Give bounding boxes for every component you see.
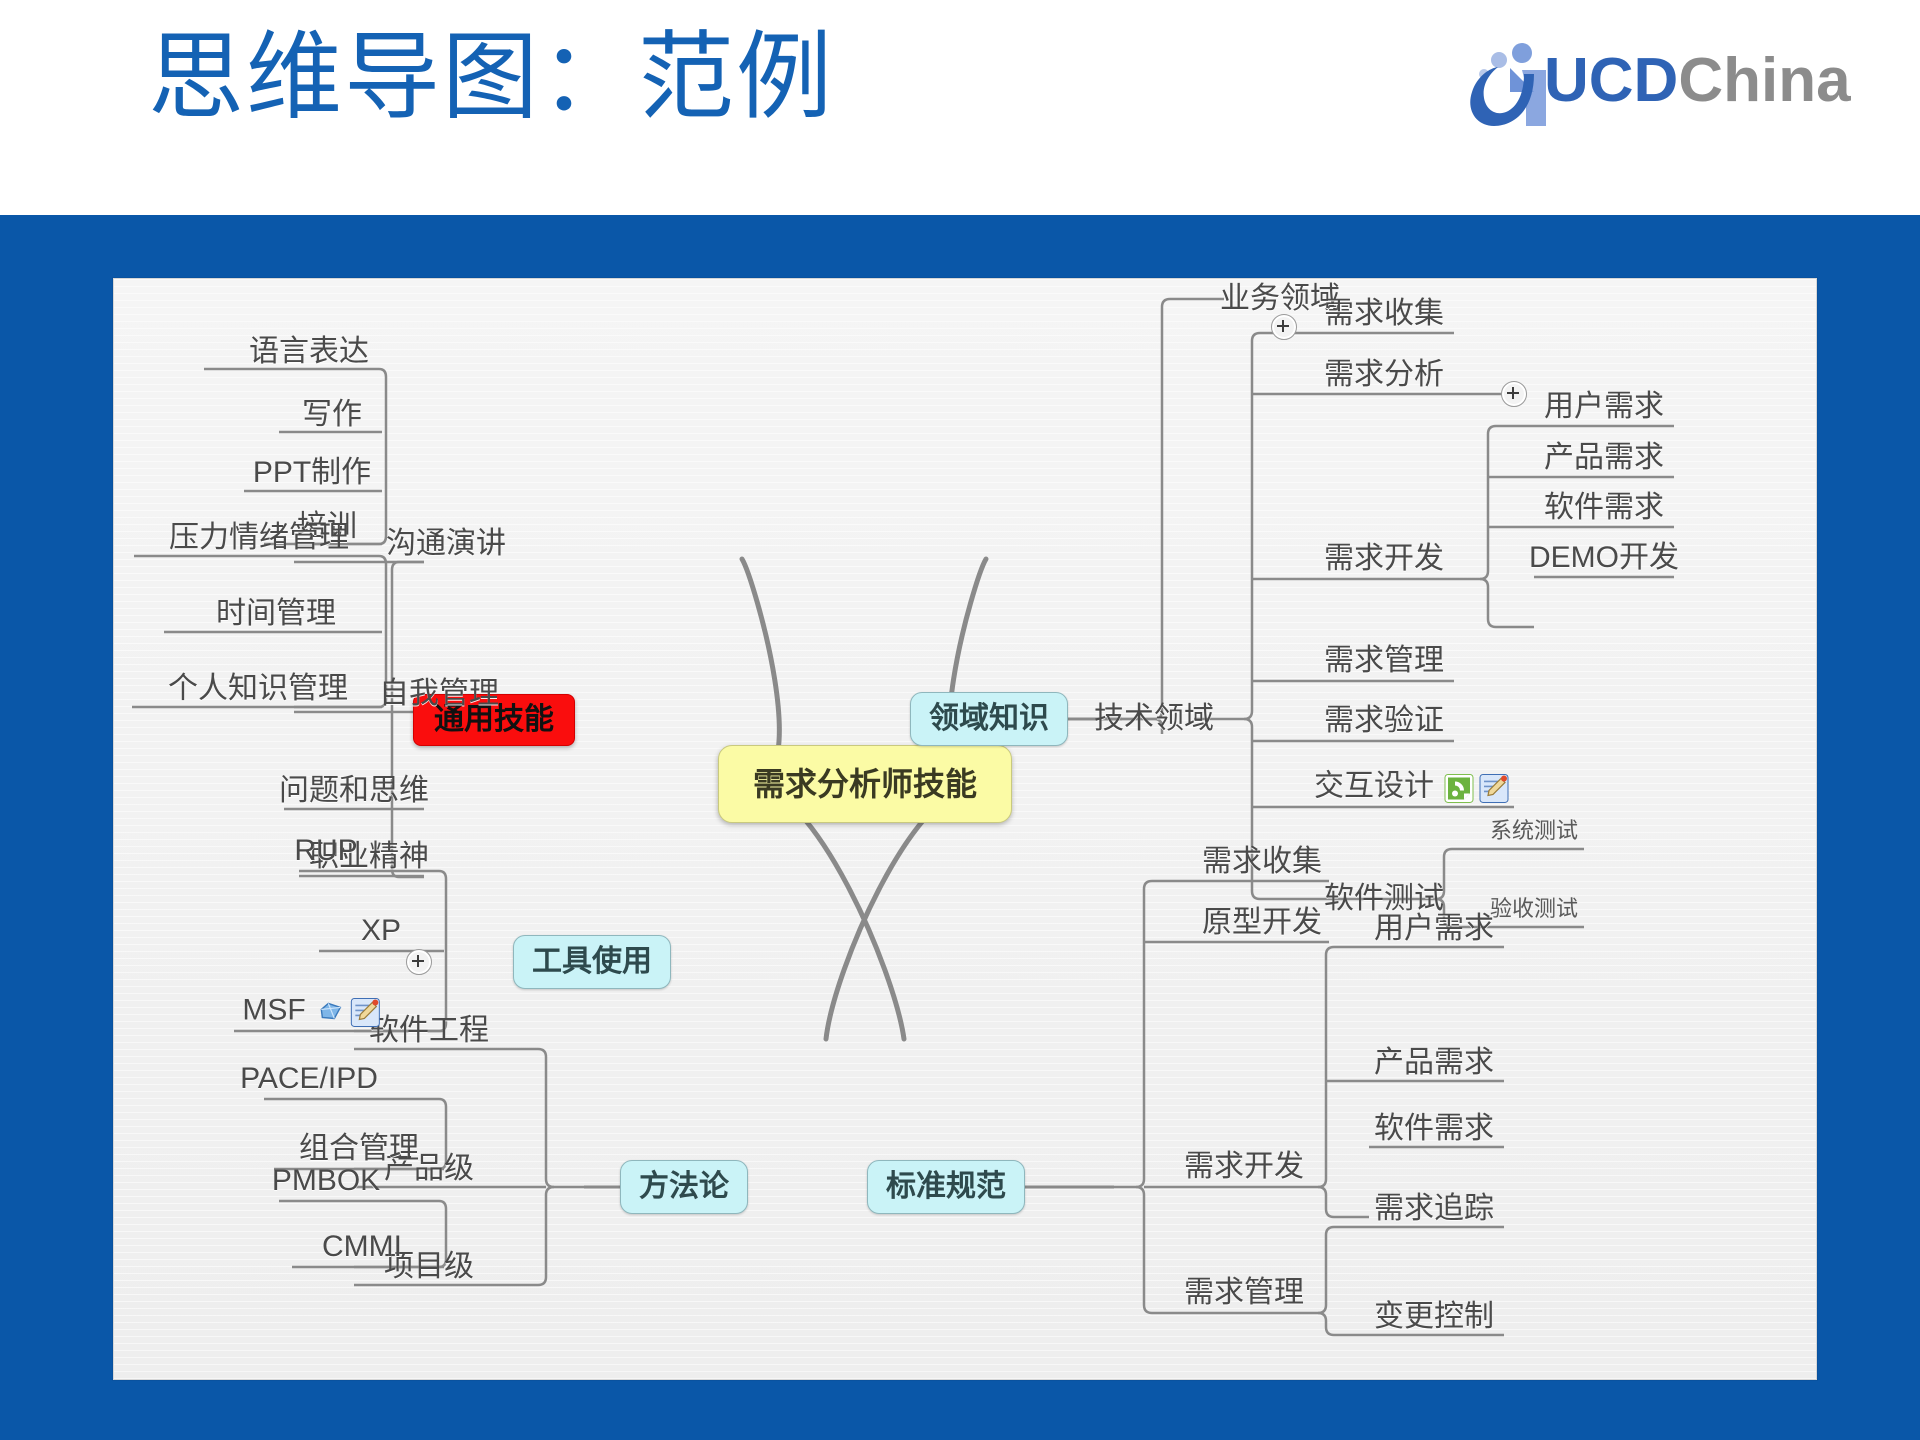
green-note-icon[interactable] (1444, 774, 1474, 804)
brand-logo: UCDChina (1458, 34, 1858, 130)
node-problems-and-thinking[interactable]: 问题和思维 (279, 774, 429, 808)
leaf-user-requirement-tech[interactable]: 用户需求 (1544, 390, 1664, 424)
leaf-requirement-management-tech[interactable]: 需求管理 (1324, 644, 1444, 678)
brand-wordmark: UCDChina (1544, 46, 1851, 116)
leaf-requirement-collection-tech[interactable]: 需求收集 (1324, 297, 1444, 331)
branch-node-methodology[interactable]: 方法论 (620, 1160, 748, 1214)
leaf-system-testing[interactable]: 系统测试 (1490, 818, 1578, 844)
expander-plus-icon-tool-usage[interactable] (406, 949, 432, 975)
node-self-management[interactable]: 自我管理 (379, 677, 499, 711)
page-title: 思维导图：范例 (148, 22, 834, 134)
logo-text-secondary: China (1678, 46, 1850, 115)
leaf-msf-label: MSF (242, 993, 305, 1026)
leaf-rup[interactable]: RUP (294, 834, 357, 868)
slide-header: 思维导图：范例 UCDChina (0, 0, 1920, 215)
leaf-writing[interactable]: 写作 (302, 398, 362, 432)
leaf-interaction-design-label: 交互设计 (1314, 769, 1434, 802)
leaf-requirement-verification[interactable]: 需求验证 (1324, 704, 1444, 738)
leaf-requirement-analysis[interactable]: 需求分析 (1324, 358, 1444, 392)
node-software-engineering[interactable]: 软件工程 (369, 1014, 489, 1048)
expander-plus-icon-business-domain[interactable] (1271, 314, 1297, 340)
leaf-language-expression[interactable]: 语言表达 (249, 335, 369, 369)
leaf-time-management[interactable]: 时间管理 (216, 597, 336, 631)
leaf-requirement-management-std[interactable]: 需求管理 (1184, 1276, 1304, 1310)
leaf-product-requirement-tech[interactable]: 产品需求 (1544, 441, 1664, 475)
leaf-xp[interactable]: XP (361, 914, 401, 948)
leaf-software-requirement-tech[interactable]: 软件需求 (1544, 491, 1664, 525)
slide-body-panel: 需求分析师技能 通用技能 沟通演讲 语言表达 写作 PPT制作 培训 自我管理 … (0, 215, 1920, 1440)
mindmap-canvas[interactable]: 需求分析师技能 通用技能 沟通演讲 语言表达 写作 PPT制作 培训 自我管理 … (113, 278, 1817, 1380)
leaf-demo-development[interactable]: DEMO开发 (1529, 541, 1679, 575)
blue-gem-icon[interactable] (316, 998, 346, 1028)
leaf-prototype-development[interactable]: 原型开发 (1202, 906, 1322, 940)
leaf-pmbok[interactable]: PMBOK (272, 1164, 380, 1198)
expander-plus-icon-requirement-analysis[interactable] (1501, 381, 1527, 407)
leaf-software-requirement-std[interactable]: 软件需求 (1374, 1112, 1494, 1146)
branch-node-tool-usage[interactable]: 工具使用 (513, 935, 671, 989)
leaf-requirement-tracing[interactable]: 需求追踪 (1374, 1192, 1494, 1226)
branch-node-domain-knowledge[interactable]: 领域知识 (910, 692, 1068, 746)
leaf-requirement-collection-std[interactable]: 需求收集 (1202, 845, 1322, 879)
interaction-design-icon-group (1444, 771, 1514, 805)
node-communication-speech[interactable]: 沟通演讲 (386, 527, 506, 561)
logo-text-primary: UCD (1544, 46, 1678, 115)
leaf-pace-ipd[interactable]: PACE/IPD (240, 1062, 378, 1096)
node-business-domain[interactable]: 业务领域 (1220, 282, 1340, 316)
leaf-requirement-development-tech[interactable]: 需求开发 (1324, 542, 1444, 576)
edit-note-icon[interactable] (351, 998, 381, 1028)
mindmap-center-node[interactable]: 需求分析师技能 (718, 745, 1012, 823)
msf-icon-group (316, 995, 386, 1029)
branch-node-standards-specs[interactable]: 标准规范 (867, 1160, 1025, 1214)
leaf-requirement-development-std[interactable]: 需求开发 (1184, 1150, 1304, 1184)
leaf-product-requirement-std[interactable]: 产品需求 (1374, 1046, 1494, 1080)
leaf-ppt-production[interactable]: PPT制作 (253, 456, 371, 490)
leaf-interaction-design[interactable]: 交互设计 (1314, 769, 1514, 804)
leaf-personal-knowledge-management[interactable]: 个人知识管理 (168, 672, 348, 706)
leaf-cmmi[interactable]: CMMI (322, 1230, 402, 1264)
leaf-msf[interactable]: MSF (242, 993, 385, 1028)
leaf-portfolio-management[interactable]: 组合管理 (299, 1132, 419, 1166)
leaf-change-control[interactable]: 变更控制 (1374, 1300, 1494, 1334)
node-technical-domain[interactable]: 技术领域 (1094, 702, 1214, 736)
leaf-stress-emotion-management[interactable]: 压力情绪管理 (169, 521, 349, 555)
leaf-user-requirement-std[interactable]: 用户需求 (1374, 912, 1494, 946)
leaf-acceptance-testing[interactable]: 验收测试 (1490, 896, 1578, 922)
edit-note-icon[interactable] (1479, 774, 1509, 804)
leaf-software-testing[interactable]: 软件测试 (1324, 882, 1444, 916)
